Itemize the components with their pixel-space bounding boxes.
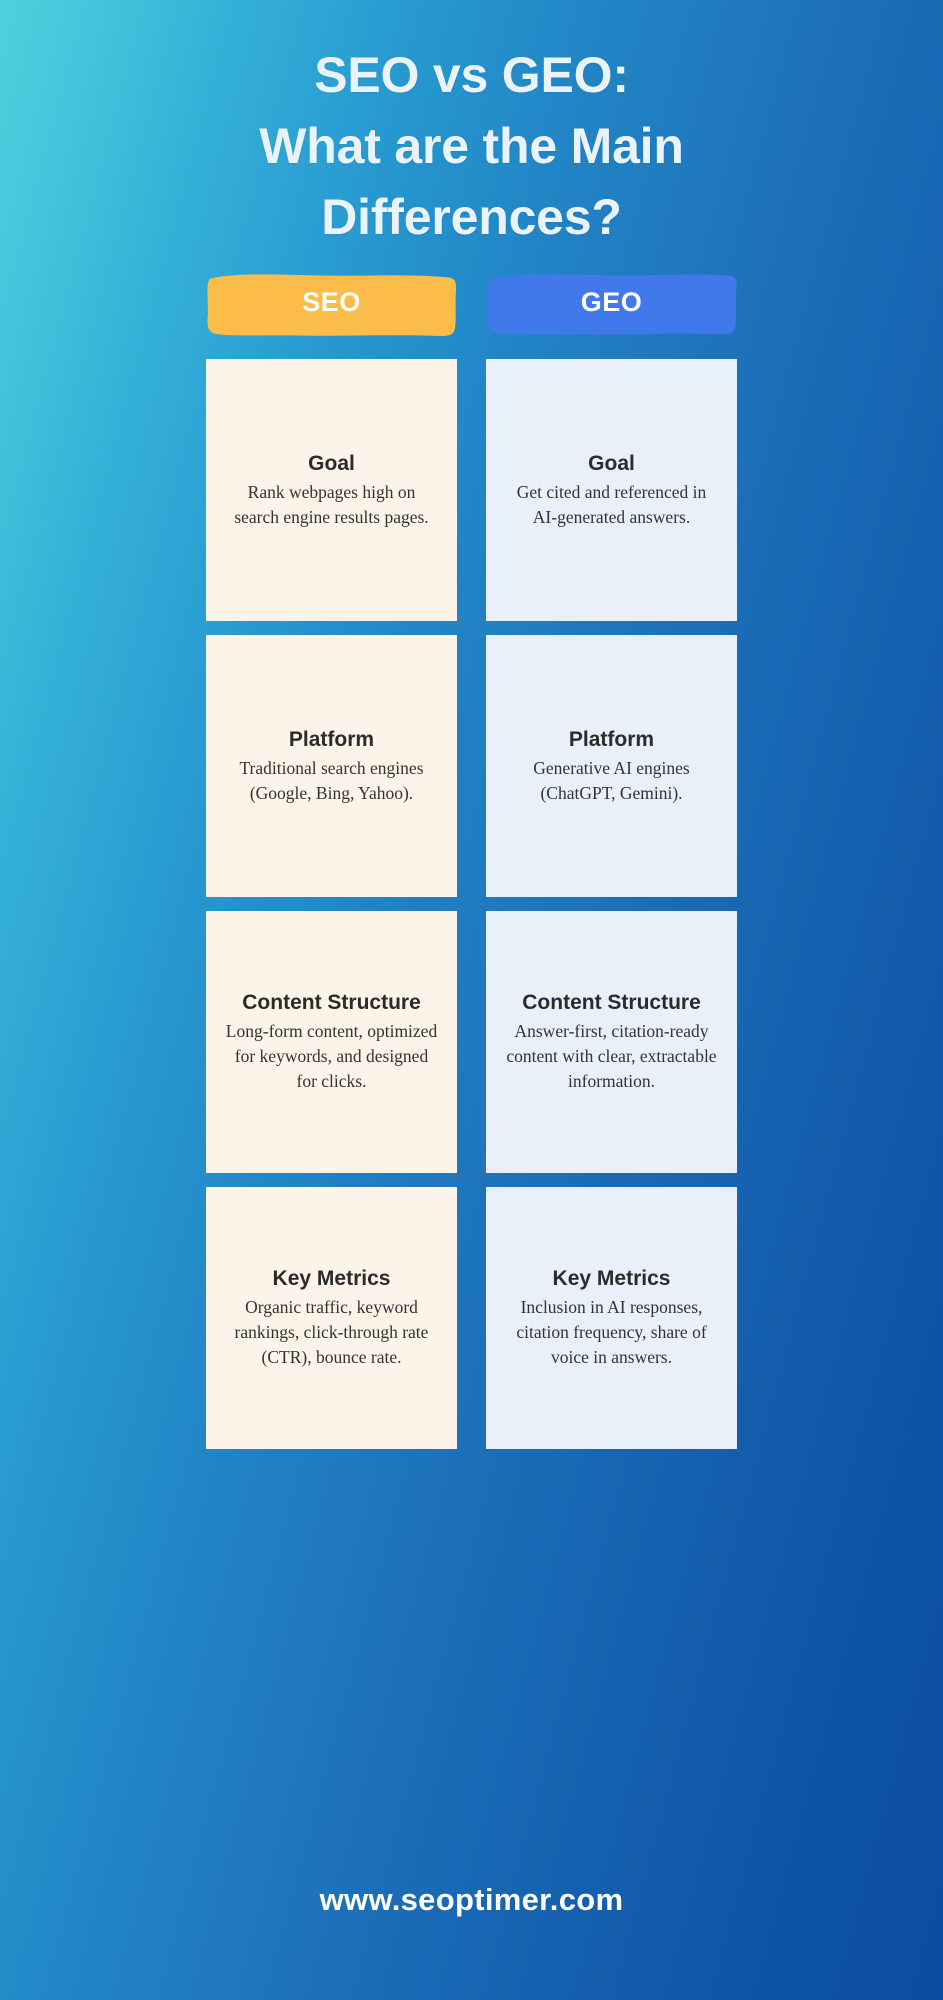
card-title: Platform bbox=[289, 727, 374, 753]
card-body: Long-form content, optimized for keyword… bbox=[224, 1019, 439, 1094]
card-geo-content-structure: Content Structure Answer-first, citation… bbox=[486, 911, 737, 1173]
card-body: Rank webpages high on search engine resu… bbox=[224, 480, 439, 530]
tab-geo[interactable]: GEO bbox=[486, 265, 737, 339]
card-body: Traditional search engines (Google, Bing… bbox=[224, 756, 439, 806]
card-geo-key-metrics: Key Metrics Inclusion in AI responses, c… bbox=[486, 1187, 737, 1449]
card-body: Organic traffic, keyword rankings, click… bbox=[224, 1295, 439, 1370]
infographic-root: SEO vs GEO: What are the Main Difference… bbox=[0, 0, 943, 2000]
card-body: Answer-first, citation-ready content wit… bbox=[504, 1019, 719, 1094]
card-title: Key Metrics bbox=[553, 1266, 671, 1292]
card-seo-content-structure: Content Structure Long-form content, opt… bbox=[206, 911, 457, 1173]
card-geo-goal: Goal Get cited and referenced in AI-gene… bbox=[486, 359, 737, 621]
tab-seo-label: SEO bbox=[302, 287, 361, 318]
card-body: Get cited and referenced in AI-generated… bbox=[504, 480, 719, 530]
title-line-1: SEO vs GEO: bbox=[122, 40, 822, 111]
footer: www.seoptimer.com bbox=[0, 1882, 943, 1918]
card-title: Content Structure bbox=[522, 990, 701, 1016]
footer-website-url[interactable]: www.seoptimer.com bbox=[320, 1882, 624, 1917]
comparison-row-platform: Platform Traditional search engines (Goo… bbox=[206, 635, 737, 897]
card-body: Inclusion in AI responses, citation freq… bbox=[504, 1295, 719, 1370]
page-title: SEO vs GEO: What are the Main Difference… bbox=[122, 40, 822, 253]
tab-geo-label: GEO bbox=[581, 287, 643, 318]
comparison-row-key-metrics: Key Metrics Organic traffic, keyword ran… bbox=[206, 1187, 737, 1449]
card-title: Content Structure bbox=[242, 990, 421, 1016]
card-body: Generative AI engines (ChatGPT, Gemini). bbox=[504, 756, 719, 806]
tab-seo[interactable]: SEO bbox=[206, 265, 457, 339]
comparison-row-goal: Goal Rank webpages high on search engine… bbox=[206, 359, 737, 621]
comparison-row-content-structure: Content Structure Long-form content, opt… bbox=[206, 911, 737, 1173]
card-seo-goal: Goal Rank webpages high on search engine… bbox=[206, 359, 457, 621]
title-line-2: What are the Main bbox=[122, 111, 822, 182]
tabs-row: SEO GEO bbox=[206, 265, 737, 345]
card-title: Key Metrics bbox=[273, 1266, 391, 1292]
card-title: Goal bbox=[308, 451, 355, 477]
card-geo-platform: Platform Generative AI engines (ChatGPT,… bbox=[486, 635, 737, 897]
comparison-grid: Goal Rank webpages high on search engine… bbox=[206, 359, 737, 1449]
card-seo-key-metrics: Key Metrics Organic traffic, keyword ran… bbox=[206, 1187, 457, 1449]
title-line-3: Differences? bbox=[122, 182, 822, 253]
card-seo-platform: Platform Traditional search engines (Goo… bbox=[206, 635, 457, 897]
card-title: Goal bbox=[588, 451, 635, 477]
card-title: Platform bbox=[569, 727, 654, 753]
